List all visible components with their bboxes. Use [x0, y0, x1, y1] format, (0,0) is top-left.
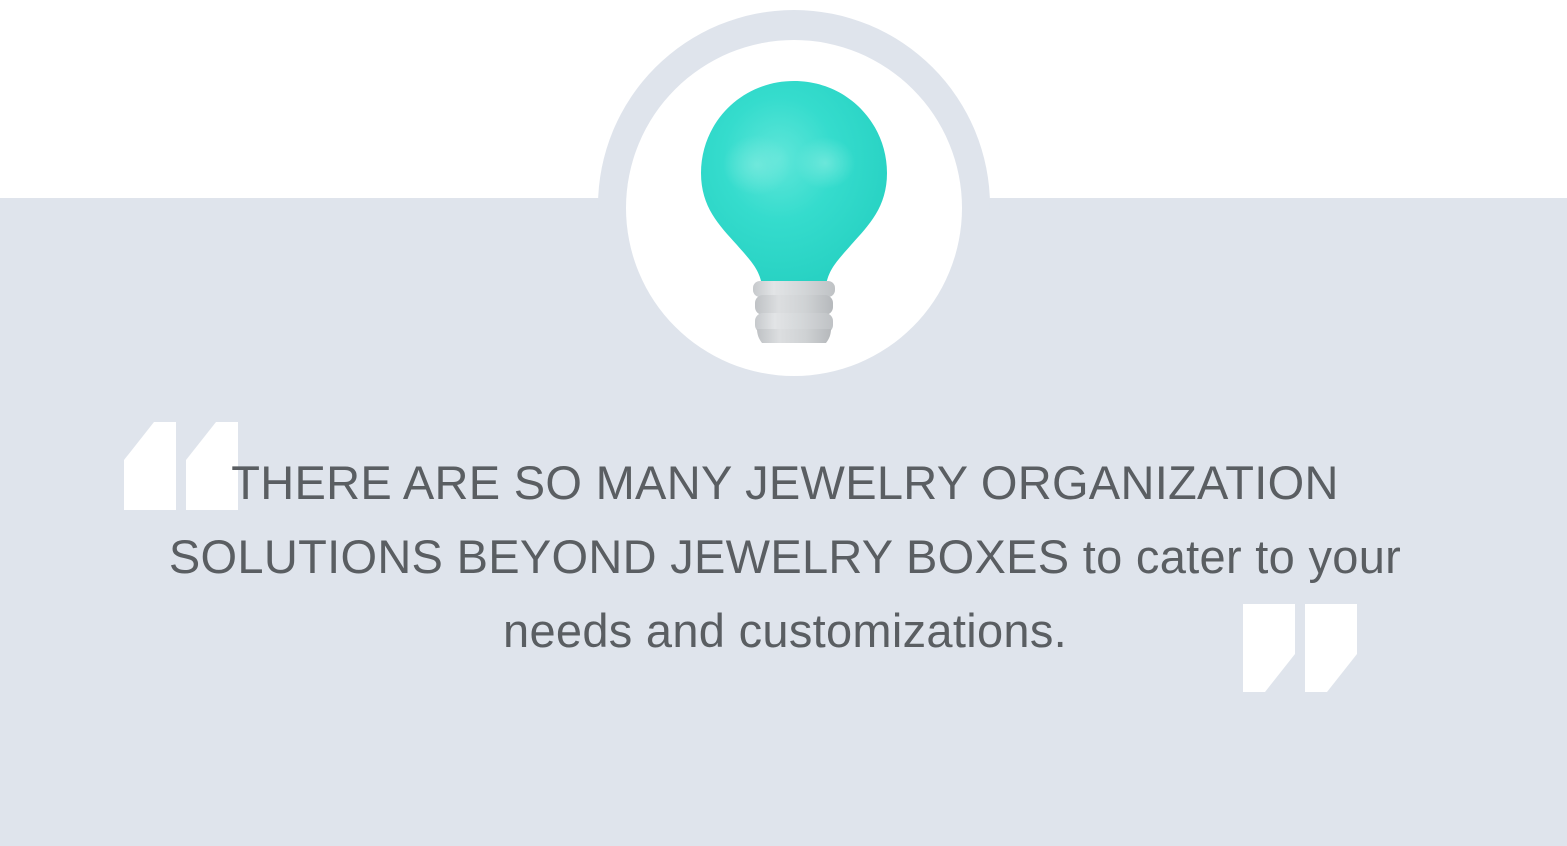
quote-line-2-upper: SOLUTIONS BEYOND JEWELRY BOXES: [169, 530, 1070, 583]
lightbulb-icon: [626, 40, 962, 376]
quote-callout-banner: THERE ARE SO MANY JEWELRY ORGANIZATION S…: [0, 0, 1567, 846]
quote-line-1: THERE ARE SO MANY JEWELRY ORGANIZATION: [231, 456, 1338, 509]
quote-line-2-lower: to cater to: [1083, 530, 1295, 583]
quote-close-icon: [1238, 602, 1363, 694]
quote-block: THERE ARE SO MANY JEWELRY ORGANIZATION S…: [0, 398, 1567, 698]
